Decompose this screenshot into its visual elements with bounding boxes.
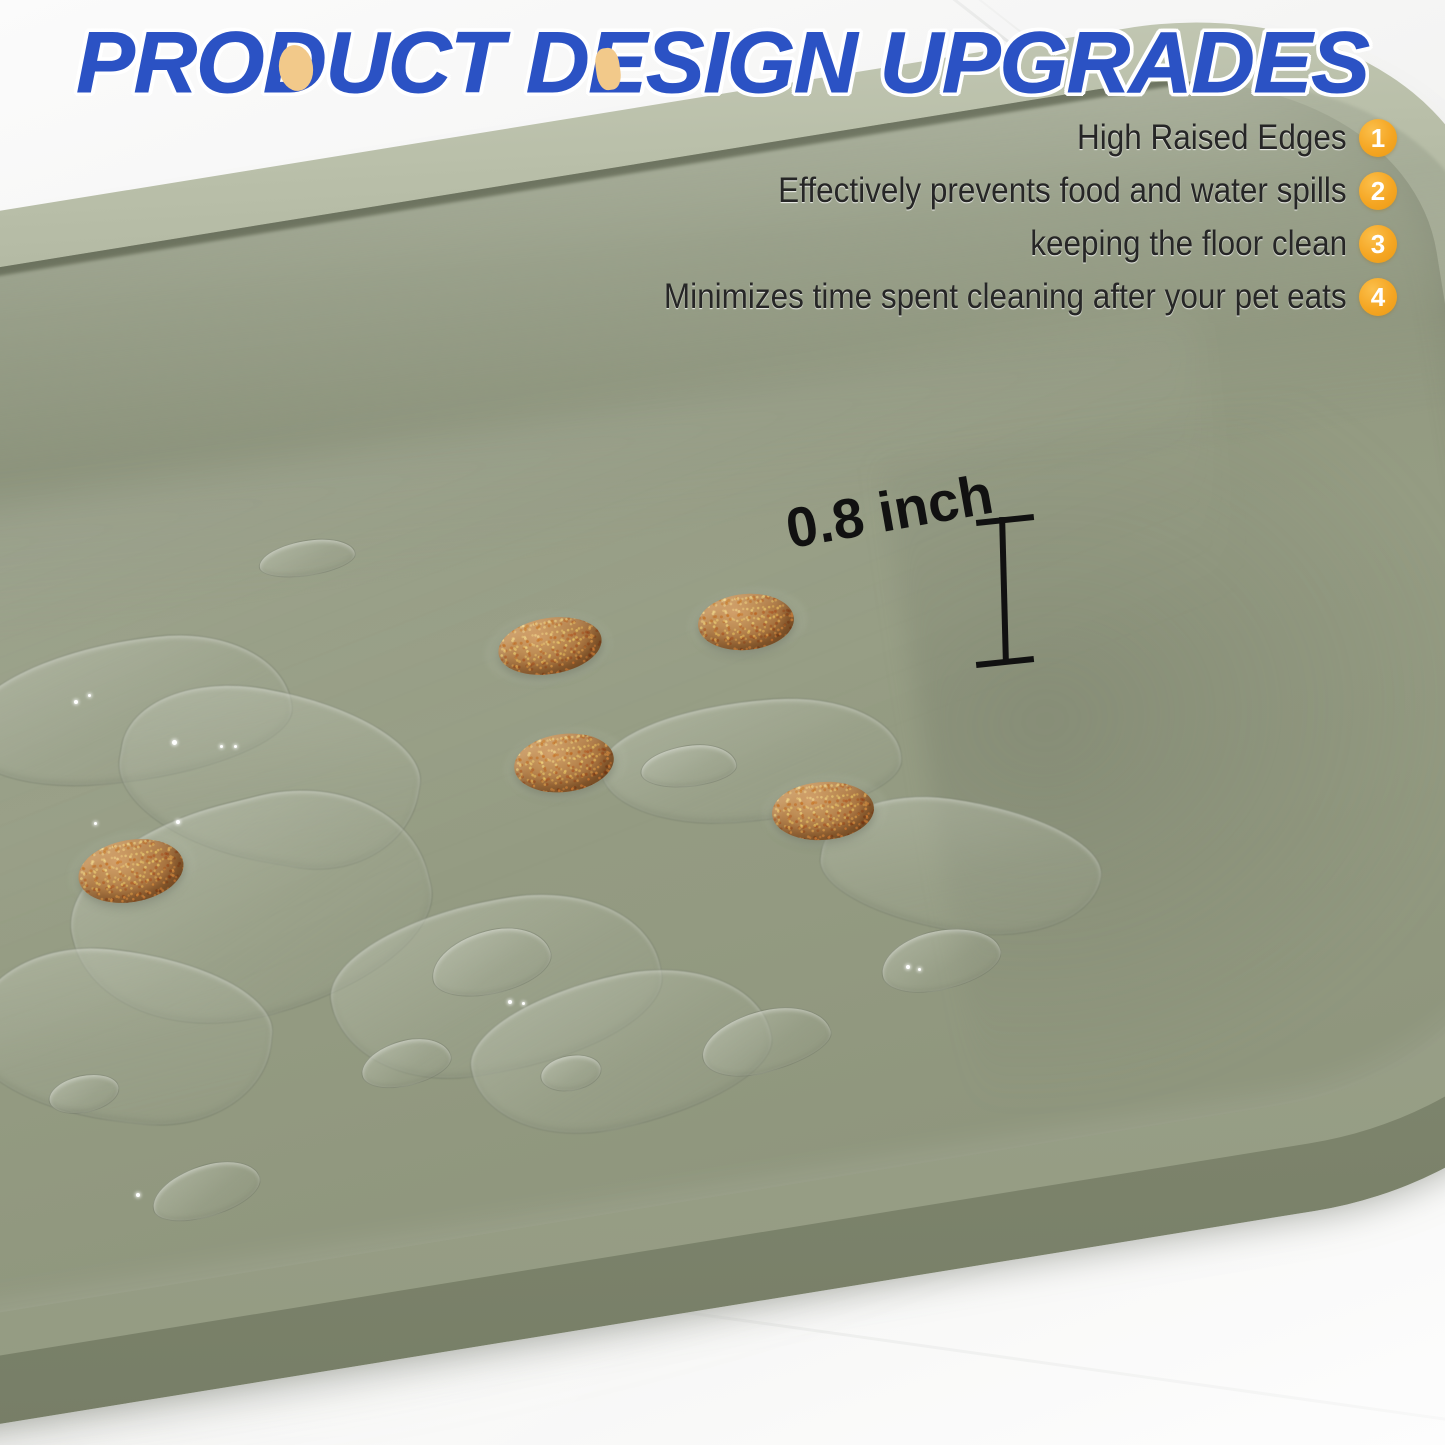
feature-label: Effectively prevents food and water spil… [779, 171, 1347, 211]
water-specular-highlight [74, 700, 78, 704]
feature-label: Minimizes time spent cleaning after your… [664, 277, 1347, 317]
feature-item-3: keeping the floor clean 3 [995, 224, 1397, 264]
feature-badge-1: 1 [1359, 119, 1397, 157]
product-infographic: 0.8 inch PRODUCT DESIGN UPGRADES High Ra… [0, 0, 1445, 1445]
feature-badge-3: 3 [1359, 225, 1397, 263]
water-specular-highlight [220, 745, 223, 748]
water-specular-highlight [508, 1000, 512, 1004]
feature-label: keeping the floor clean [1030, 224, 1347, 264]
page-title: PRODUCT DESIGN UPGRADES [0, 14, 1445, 113]
water-specular-highlight [94, 822, 97, 825]
water-specular-highlight [172, 740, 177, 745]
water-specular-highlight [88, 694, 91, 697]
water-specular-highlight [176, 820, 180, 824]
water-specular-highlight [906, 965, 910, 969]
water-specular-highlight [918, 968, 921, 971]
water-specular-highlight [522, 1002, 525, 1005]
feature-item-2: Effectively prevents food and water spil… [715, 171, 1397, 211]
feature-badge-4: 4 [1359, 278, 1397, 316]
feature-label: High Raised Edges [1077, 118, 1347, 158]
water-specular-highlight [136, 1193, 140, 1197]
water-droplet [256, 533, 358, 582]
water-spill-layer [0, 0, 1445, 1445]
water-specular-highlight [234, 745, 237, 748]
feature-item-1: High Raised Edges 1 [1047, 118, 1397, 158]
water-droplet [145, 1151, 267, 1230]
feature-item-4: Minimizes time spent cleaning after your… [588, 277, 1397, 317]
feature-badge-2: 2 [1359, 172, 1397, 210]
